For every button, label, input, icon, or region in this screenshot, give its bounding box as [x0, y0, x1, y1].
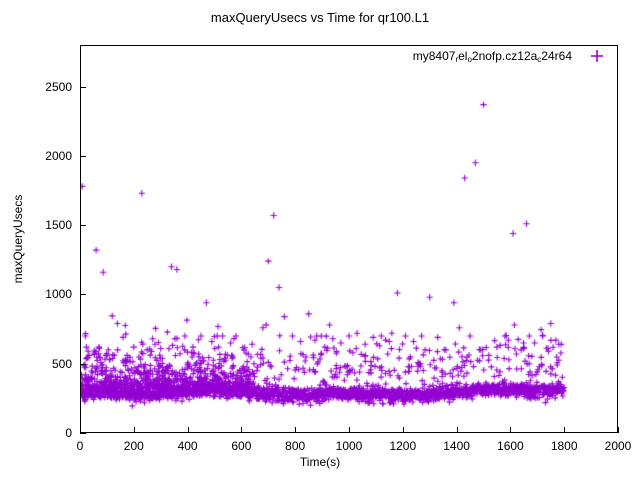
- x-tick-label: 1200: [373, 440, 433, 452]
- x-tick-label: 1400: [427, 440, 487, 452]
- x-tick-label: 1600: [480, 440, 540, 452]
- x-tick-mark: [241, 427, 242, 433]
- y-tick-mark: [80, 294, 86, 295]
- chart-screenshot: maxQueryUsecs vs Time for qr100.L1 05001…: [0, 0, 640, 480]
- x-tick-mark: [188, 427, 189, 433]
- x-tick-mark: [349, 427, 350, 433]
- x-tick-label: 400: [158, 440, 218, 452]
- legend: my8407relo2nofp.cz12ac24r64: [318, 47, 618, 67]
- x-tick-mark: [134, 427, 135, 433]
- x-tick-mark: [403, 427, 404, 433]
- x-tick-label: 1000: [319, 440, 379, 452]
- scatter-points-layer: [81, 46, 617, 432]
- x-tick-mark: [295, 427, 296, 433]
- plot-area: [80, 45, 618, 433]
- y-tick-mark: [80, 225, 86, 226]
- x-tick-mark: [80, 427, 81, 433]
- x-tick-label: 2000: [588, 440, 640, 452]
- y-tick-mark: [80, 87, 86, 88]
- x-tick-label: 1800: [534, 440, 594, 452]
- x-tick-label: 600: [211, 440, 271, 452]
- x-tick-mark: [510, 427, 511, 433]
- y-tick-mark: [80, 156, 86, 157]
- y-tick-mark: [80, 364, 86, 365]
- x-tick-label: 0: [50, 440, 110, 452]
- legend-entry-label: my8407relo2nofp.cz12ac24r64: [413, 47, 572, 69]
- y-tick-label: 0: [12, 427, 72, 439]
- y-axis-title: maxQueryUsecs: [11, 159, 25, 319]
- y-tick-label: 2500: [12, 81, 72, 93]
- x-axis-title: Time(s): [0, 455, 640, 469]
- x-tick-label: 800: [265, 440, 325, 452]
- x-tick-mark: [618, 427, 619, 433]
- x-tick-mark: [457, 427, 458, 433]
- x-tick-label: 200: [104, 440, 164, 452]
- chart-title: maxQueryUsecs vs Time for qr100.L1: [0, 10, 640, 26]
- y-tick-label: 500: [12, 358, 72, 370]
- x-tick-mark: [564, 427, 565, 433]
- y-tick-mark: [80, 433, 86, 434]
- legend-plus-marker-icon: [590, 49, 604, 63]
